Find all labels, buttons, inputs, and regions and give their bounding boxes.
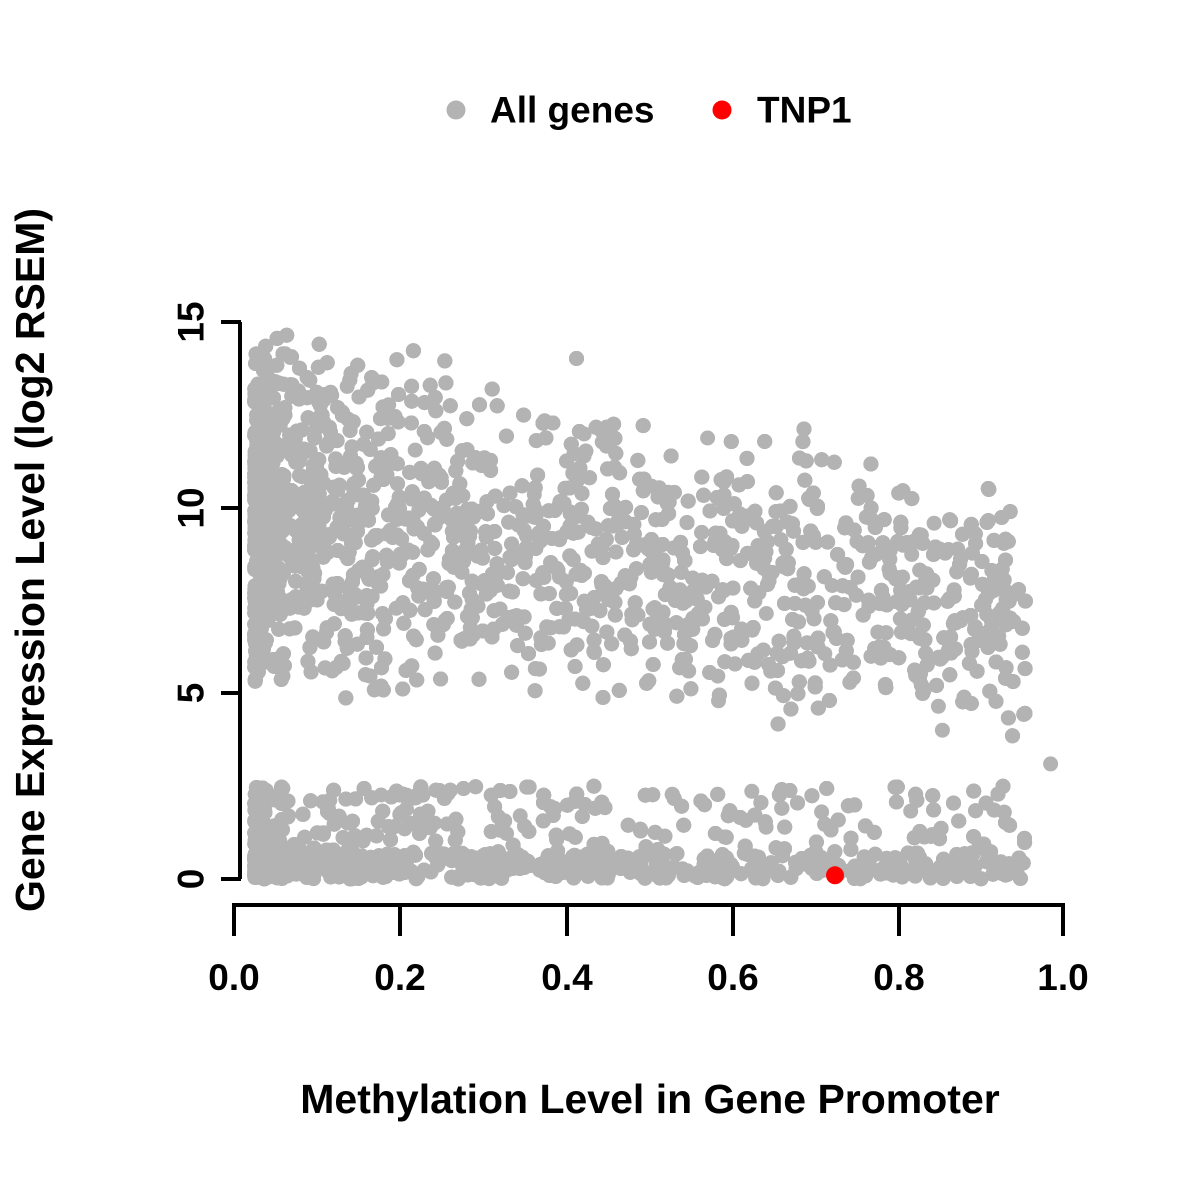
legend-label-tnp1: TNP1	[757, 90, 852, 131]
legend-marker-tnp1	[713, 101, 732, 120]
y-tick-label-10: 10	[171, 487, 212, 528]
y-tick-label-15: 15	[171, 301, 212, 342]
x-tick-label-0.8: 0.8	[873, 957, 924, 998]
highlight-point-layer	[826, 866, 844, 884]
legend-label-all-genes: All genes	[490, 90, 655, 131]
legend-marker-all-genes	[447, 101, 466, 120]
x-tick-label-0.6: 0.6	[707, 957, 758, 998]
x-tick-label-0.2: 0.2	[374, 957, 425, 998]
y-axis-title: Gene Expression Level (log2 RSEM)	[7, 208, 53, 912]
y-tick-label-0: 0	[171, 869, 212, 890]
x-tick-label-0.0: 0.0	[208, 957, 259, 998]
tnp1-data-point	[826, 866, 844, 884]
x-tick-label-1.0: 1.0	[1037, 957, 1088, 998]
x-axis-title: Methylation Level in Gene Promoter	[300, 1076, 999, 1122]
scatter-plot-figure: 15 10 5 0 0.0 0.2 0.4 0.6 0.8 1.0 Methyl…	[0, 0, 1200, 1200]
legend: All genes TNP1	[447, 90, 852, 131]
x-tick-label-0.4: 0.4	[541, 957, 593, 998]
y-tick-label-5: 5	[171, 683, 212, 704]
scatter-plot-canvas: 15 10 5 0 0.0 0.2 0.4 0.6 0.8 1.0 Methyl…	[0, 0, 1200, 1200]
